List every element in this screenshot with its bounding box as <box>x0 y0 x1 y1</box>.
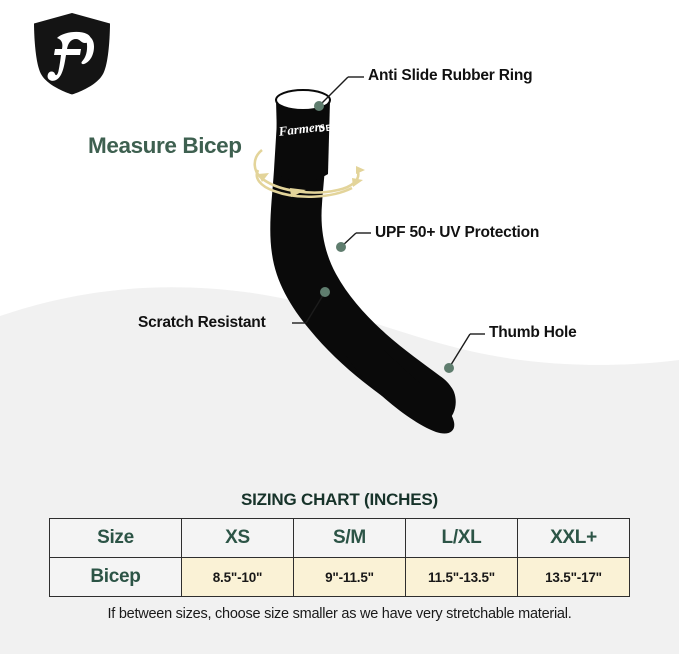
callout-label-anti-slide-rubber-ring: Anti Slide Rubber Ring <box>368 68 532 84</box>
callout-label-scratch-resistant: Scratch Resistant <box>138 315 266 331</box>
sleeve-opening-ellipse <box>276 90 330 110</box>
sizing-chart-note: If between sizes, choose size smaller as… <box>0 606 679 622</box>
thumb-hole-bump-shape <box>415 378 455 425</box>
table-cell-bicep-xxl: 13.5"-17" <box>518 558 630 597</box>
callout-label-thumb-hole: Thumb Hole <box>489 325 577 341</box>
arm-sleeve-illustration: Farmers DEFENSE <box>228 78 498 438</box>
sleeve-cuff-shape <box>276 100 330 182</box>
table-cell-header-xs: XS <box>182 519 294 558</box>
table-cell-bicep-label: Bicep <box>50 558 182 597</box>
callout-label-upf-protection: UPF 50+ UV Protection <box>375 225 539 241</box>
brand-logo-shield-icon <box>27 8 117 100</box>
table-cell-bicep-sm: 9"-11.5" <box>294 558 406 597</box>
table-cell-size-label: Size <box>50 519 182 558</box>
table-cell-header-lxl: L/XL <box>406 519 518 558</box>
table-cell-bicep-xs: 8.5"-10" <box>182 558 294 597</box>
table-row-header: Size XS S/M L/XL XXL+ <box>50 519 630 558</box>
infographic-page: Farmers DEFENSE <box>0 0 679 654</box>
table-row-bicep: Bicep 8.5"-10" 9"-11.5" 11.5"-13.5" 13.5… <box>50 558 630 597</box>
table-cell-header-sm: S/M <box>294 519 406 558</box>
table-cell-bicep-lxl: 11.5"-13.5" <box>406 558 518 597</box>
sizing-chart-table: Size XS S/M L/XL XXL+ Bicep 8.5"-10" 9"-… <box>49 518 630 597</box>
table-cell-header-xxl: XXL+ <box>518 519 630 558</box>
sizing-chart-title: SIZING CHART (INCHES) <box>0 490 679 510</box>
measure-bicep-label: Measure Bicep <box>88 135 242 158</box>
